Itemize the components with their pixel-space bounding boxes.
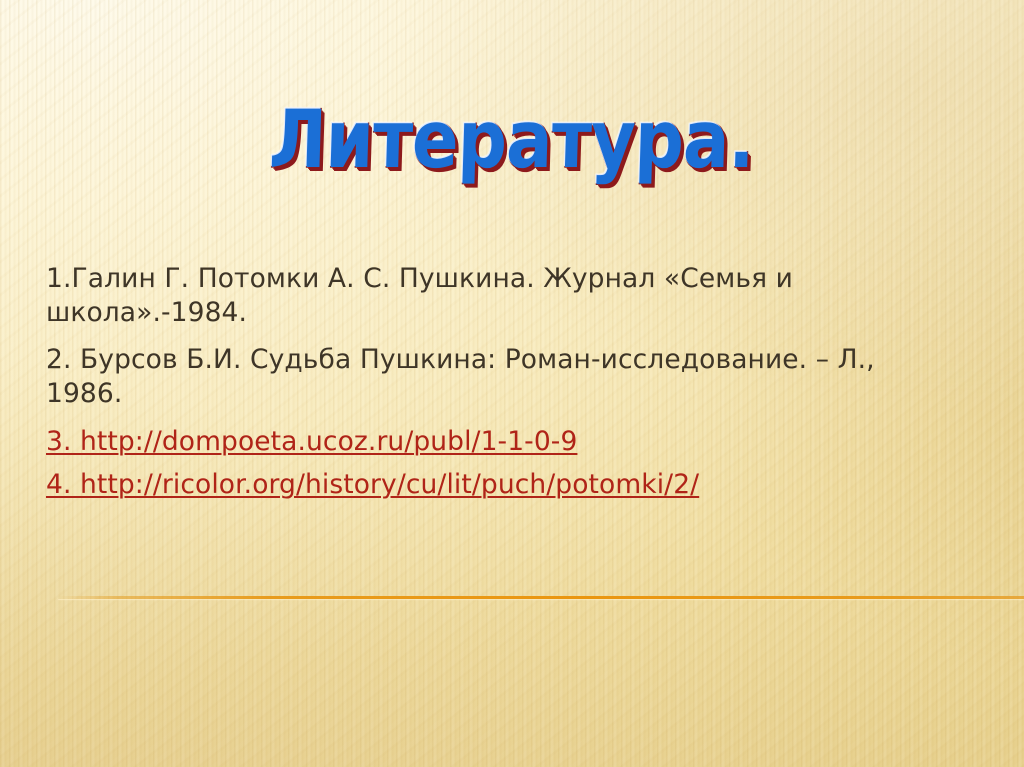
reference-item-2: 2. Бурсов Б.И. Судьба Пушкина: Роман-исс… bbox=[46, 343, 946, 412]
reference-link-4[interactable]: 4. http://ricolor.org/history/cu/lit/puc… bbox=[46, 469, 699, 501]
slide-canvas: Литература. 1.Галин Г. Потомки А. С. Пуш… bbox=[0, 0, 1024, 767]
reference-link-3[interactable]: 3. http://dompoeta.ucoz.ru/publ/1-1-0-9 bbox=[46, 426, 577, 458]
reference-list: 1.Галин Г. Потомки А. С. Пушкина. Журнал… bbox=[46, 262, 986, 512]
horizontal-divider-line bbox=[58, 596, 1024, 599]
reference-item-1: 1.Галин Г. Потомки А. С. Пушкина. Журнал… bbox=[46, 262, 958, 331]
